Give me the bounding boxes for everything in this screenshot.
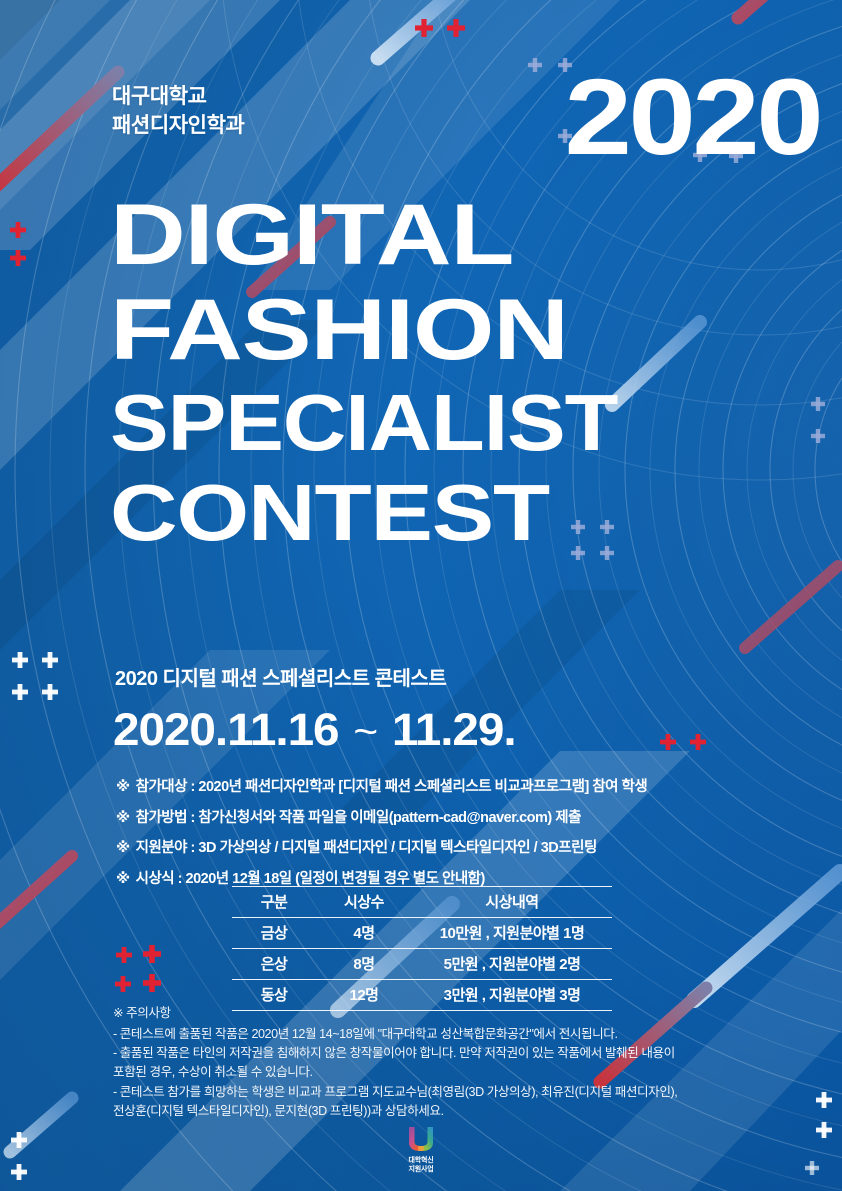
table-header-row: 구분 시상수 시상내역 (232, 887, 612, 918)
title-line-specialist: SPECIALIST (110, 386, 770, 460)
title-line-fashion: FASHION (110, 291, 842, 370)
logo-text-line-1: 대학혁신 (389, 1157, 453, 1166)
poster-canvas: 대구대학교 패션디자인학과 2020 DIGITAL FASHION SPECI… (0, 0, 842, 1191)
table-header-details: 시상내역 (412, 887, 612, 918)
department-heading: 대구대학교 패션디자인학과 (112, 83, 244, 141)
year-display: 2020 (564, 72, 820, 163)
poster-content: 대구대학교 패션디자인학과 2020 DIGITAL FASHION SPECI… (0, 0, 842, 1191)
bullet-mark-3: ※ (116, 871, 130, 887)
bullet-mark-1: ※ (116, 810, 130, 826)
table-header-count: 시상수 (316, 887, 412, 918)
main-title: DIGITAL FASHION SPECIALIST CONTEST (110, 196, 710, 549)
bullet-mark-2: ※ (116, 840, 130, 856)
info-line-method: ※참가방법 : 참가신청서와 작품 파일을 이메일(pattern-cad@na… (116, 811, 816, 826)
info-line-fields: ※지원분야 : 3D 가상의상 / 디지털 패션디자인 / 디지털 텍스타일디자… (116, 841, 816, 856)
note-item-1: - 출품된 작품은 타인의 저작권을 침해하지 않은 창작물이어야 합니다. 만… (113, 1044, 813, 1063)
award-name-gold: 금상 (232, 918, 316, 949)
date-end: 11.29. (392, 704, 516, 755)
table-row: 은상 8명 5만원 , 지원분야별 2명 (232, 949, 612, 980)
info-text-3: 2020년 12월 18일 (일정이 변경될 경우 별도 안내함) (186, 871, 485, 887)
note-item-4: 전상훈(디지털 텍스타일디자인), 문지현(3D 프린팅))과 상담하세요. (113, 1102, 813, 1121)
award-details-gold: 10만원 , 지원분야별 1명 (412, 918, 612, 949)
subtitle: 2020 디지털 패션 스페셜리스트 콘테스트 (115, 662, 446, 691)
event-dates: 2020.11.16~11.29. (113, 704, 516, 756)
date-separator: ~ (339, 710, 392, 754)
notes-section: ※ 주의사항 - 콘테스트에 출품된 작품은 2020년 12월 14~18일에… (113, 1004, 813, 1121)
award-details-silver: 5만원 , 지원분야별 2명 (412, 949, 612, 980)
logo-caption: 대학혁신 지원사업 (389, 1157, 453, 1175)
info-text-2: 3D 가상의상 / 디지털 패션디자인 / 디지털 텍스타일디자인 / 3D프린… (198, 840, 596, 856)
bullet-mark-0: ※ (116, 779, 130, 795)
title-line-contest: CONTEST (110, 476, 812, 550)
info-label-2: 지원분야 (136, 840, 187, 856)
footer-logo: 대학혁신 지원사업 (389, 1126, 453, 1175)
award-count-silver: 8명 (316, 949, 412, 980)
award-name-silver: 은상 (232, 949, 316, 980)
note-item-2: 포함된 경우, 수상이 취소될 수 있습니다. (113, 1063, 813, 1082)
title-line-digital: DIGITAL (110, 196, 842, 275)
note-item-0: - 콘테스트에 출품된 작품은 2020년 12월 14~18일에 "대구대학교… (113, 1025, 813, 1044)
notes-heading: ※ 주의사항 (113, 1004, 813, 1023)
info-label-1: 참가방법 (136, 810, 187, 826)
u-mark-logo-icon (406, 1126, 436, 1154)
info-label-0: 참가대상 (136, 779, 187, 795)
note-item-3: - 콘테스트 참가를 희망하는 학생은 비교과 프로그램 지도교수님(최영림(3… (113, 1083, 813, 1102)
award-table: 구분 시상수 시상내역 금상 4명 10만원 , 지원분야별 1명 은상 8명 … (232, 886, 612, 1011)
table-header-category: 구분 (232, 887, 316, 918)
organization-line-2: 패션디자인학과 (112, 112, 244, 141)
info-line-participants: ※참가대상 : 2020년 패션디자인학과 [디지털 패션 스페셜리스트 비교과… (116, 780, 816, 795)
info-list: ※참가대상 : 2020년 패션디자인학과 [디지털 패션 스페셜리스트 비교과… (116, 780, 816, 902)
info-text-0: 2020년 패션디자인학과 [디지털 패션 스페셜리스트 비교과프로그램] 참여… (198, 779, 647, 795)
organization-line-1: 대구대학교 (112, 83, 244, 112)
info-line-ceremony: ※시상식 : 2020년 12월 18일 (일정이 변경될 경우 별도 안내함) (116, 872, 816, 887)
info-label-3: 시상식 (136, 871, 175, 887)
date-start: 2020.11.16 (113, 704, 339, 755)
info-text-1: 참가신청서와 작품 파일을 이메일(pattern-cad@naver.com)… (198, 810, 581, 826)
table-row: 금상 4명 10만원 , 지원분야별 1명 (232, 918, 612, 949)
logo-text-line-2: 지원사업 (389, 1166, 453, 1175)
award-count-gold: 4명 (316, 918, 412, 949)
